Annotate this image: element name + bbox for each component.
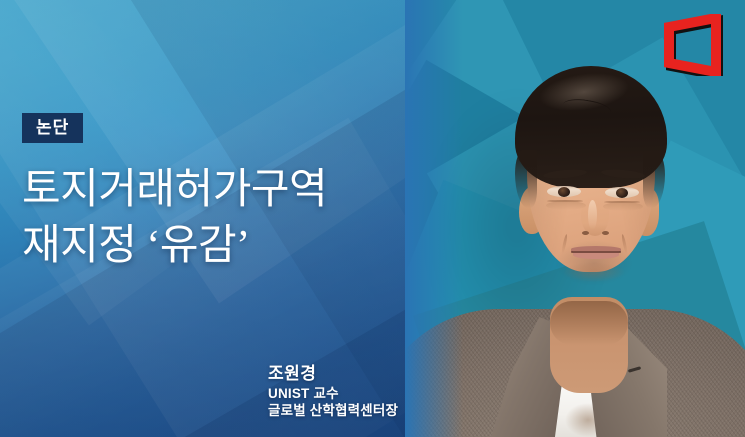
author-organization: 글로벌 산학협력센터장 [268, 402, 398, 419]
author-name: 조원경 [268, 363, 398, 385]
eye-left [547, 186, 581, 197]
red-perspective-square-logo[interactable] [661, 14, 723, 76]
mouth [571, 246, 621, 258]
category-badge: 논단 [22, 113, 83, 143]
title-line-1: 토지거래허가구역 [22, 163, 422, 219]
byline: 조원경 UNIST 교수 글로벌 산학협력센터장 [268, 363, 398, 419]
article-card: 논단 토지거래허가구역 재지정 ‘유감’ 조원경 UNIST 교수 글로벌 산학… [0, 0, 745, 437]
eye-right [605, 187, 639, 198]
page-title: 토지거래허가구역 재지정 ‘유감’ [22, 163, 422, 275]
title-line-2: 재지정 ‘유감’ [22, 219, 422, 275]
author-role: UNIST 교수 [268, 385, 398, 402]
